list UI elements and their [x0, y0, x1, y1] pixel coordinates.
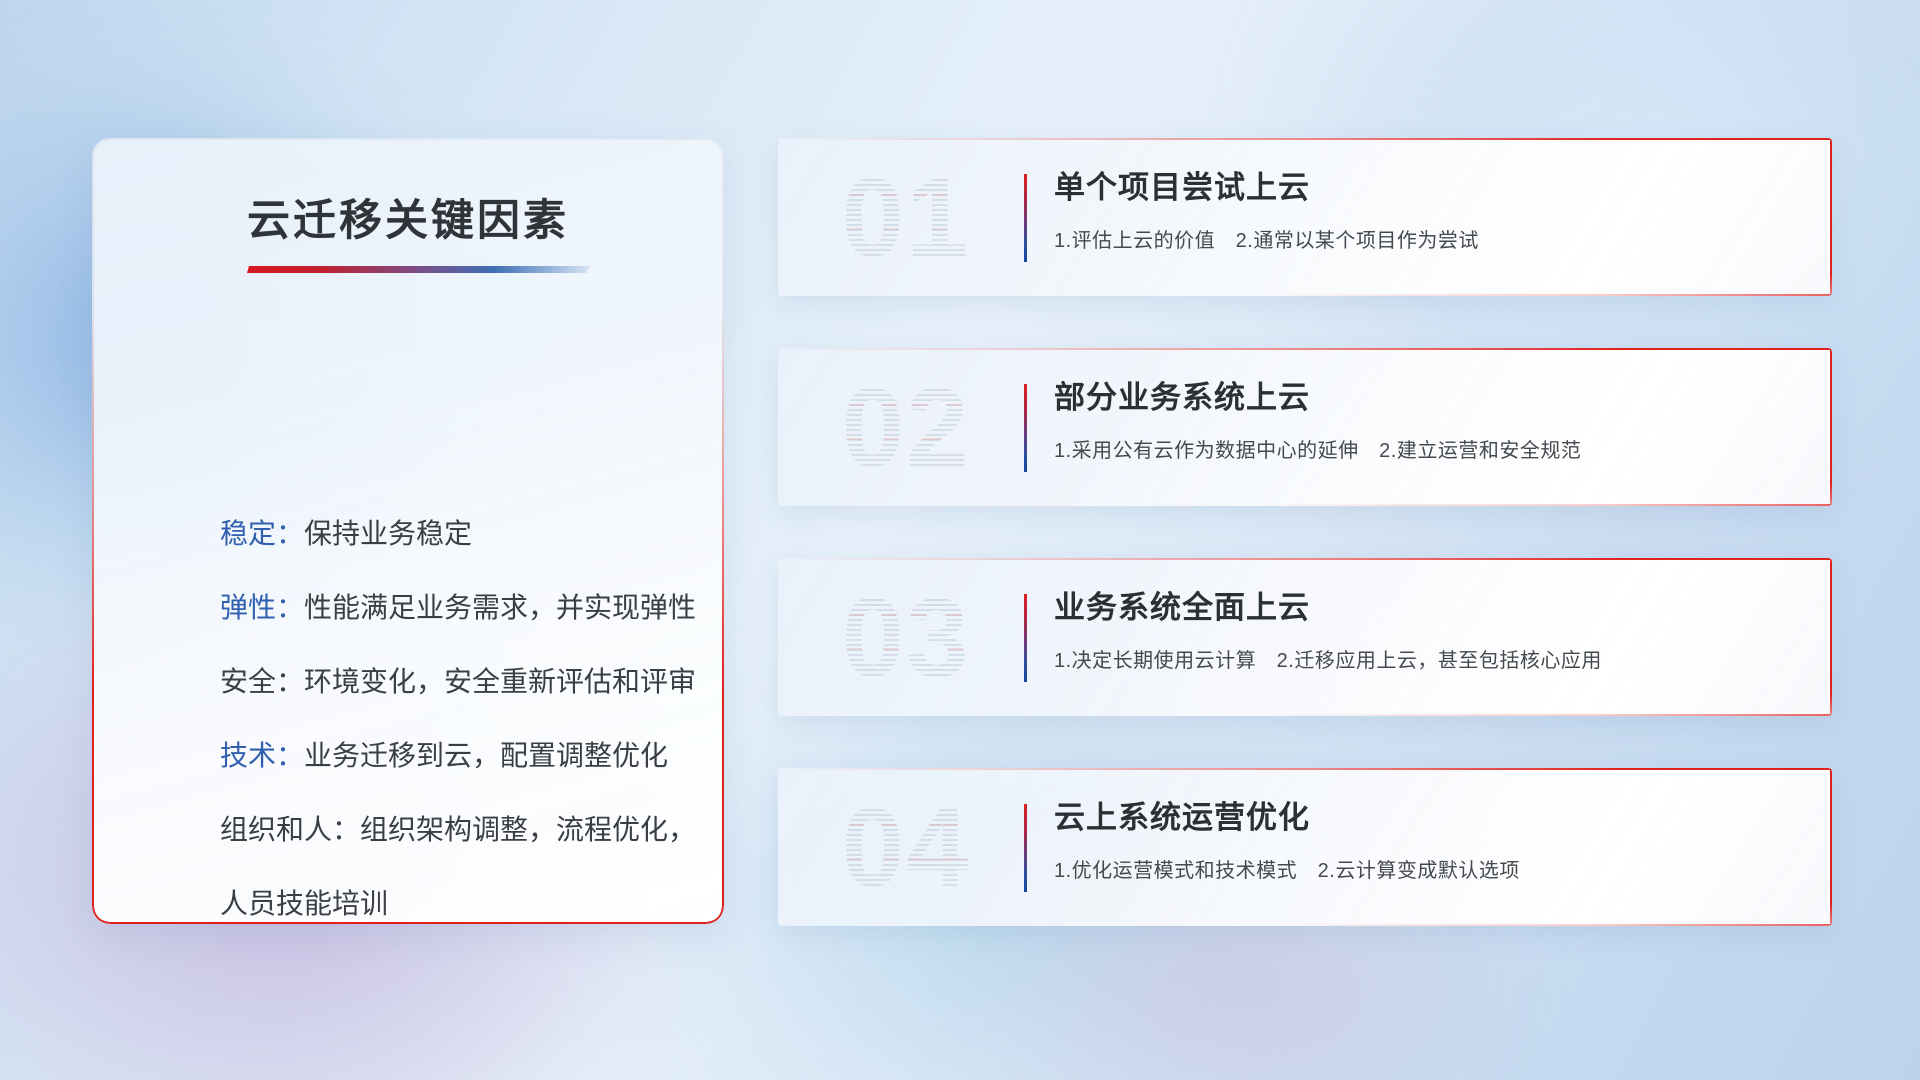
factor-row: 人员技能培训: [220, 890, 690, 918]
factor-list: 稳定：保持业务稳定弹性：性能满足业务需求，并实现弹性安全：环境变化，安全重新评估…: [220, 520, 690, 918]
card-top-border: [778, 558, 1832, 560]
factor-label: 稳定：: [220, 518, 304, 549]
factor-text: 业务迁移到云，配置调整优化: [304, 740, 668, 771]
factor-text: 性能满足业务需求，并实现弹性: [304, 592, 696, 623]
factor-label: 安全：: [220, 666, 304, 697]
card-bottom-border: [778, 504, 1832, 506]
stage-card[interactable]: 0101单个项目尝试上云1.评估上云的价值 2.通常以某个项目作为尝试: [778, 138, 1832, 296]
card-top-border: [778, 138, 1832, 140]
stage-number-watermark-tint: 02: [826, 364, 986, 492]
factor-text: 环境变化，安全重新评估和评审: [304, 666, 696, 697]
factor-text: 组织架构调整，流程优化，: [360, 814, 696, 845]
card-right-border: [1830, 768, 1832, 926]
stage-number-watermark-tint: 04: [826, 784, 986, 912]
factor-row: 组织和人：组织架构调整，流程优化，: [220, 816, 690, 844]
factor-row: 安全：环境变化，安全重新评估和评审: [220, 668, 690, 696]
stage-subtitle: 1.评估上云的价值 2.通常以某个项目作为尝试: [1054, 224, 1802, 253]
stage-accent-bar: [1024, 384, 1027, 472]
factor-row: 稳定：保持业务稳定: [220, 520, 690, 548]
stage-title: 部分业务系统上云: [1054, 380, 1802, 416]
title-underline-accent: [247, 266, 591, 273]
factor-label: 组织和人：: [220, 814, 360, 845]
page-title: 云迁移关键因素: [92, 186, 724, 248]
stage-card-body: 云上系统运营优化1.优化运营模式和技术模式 2.云计算变成默认选项: [1054, 800, 1802, 883]
key-factors-panel: 云迁移关键因素 稳定：保持业务稳定弹性：性能满足业务需求，并实现弹性安全：环境变…: [92, 138, 724, 924]
card-right-border: [1830, 558, 1832, 716]
factor-row: 弹性：性能满足业务需求，并实现弹性: [220, 594, 690, 622]
stage-accent-bar: [1024, 174, 1027, 262]
stage-accent-bar: [1024, 594, 1027, 682]
stage-title: 单个项目尝试上云: [1054, 170, 1802, 206]
stage-card-list: 0101单个项目尝试上云1.评估上云的价值 2.通常以某个项目作为尝试0202部…: [778, 138, 1832, 926]
factor-row: 技术：业务迁移到云，配置调整优化: [220, 742, 690, 770]
stage-accent-bar: [1024, 804, 1027, 892]
factor-label: 弹性：: [220, 592, 304, 623]
stage-subtitle: 1.决定长期使用云计算 2.迁移应用上云，甚至包括核心应用: [1054, 644, 1802, 673]
stage-number-watermark-tint: 03: [826, 574, 986, 702]
stage-card-body: 单个项目尝试上云1.评估上云的价值 2.通常以某个项目作为尝试: [1054, 170, 1802, 253]
card-bottom-border: [778, 714, 1832, 716]
stage-number-watermark-tint: 01: [826, 154, 986, 282]
card-top-border: [778, 348, 1832, 350]
stage-card[interactable]: 0404云上系统运营优化1.优化运营模式和技术模式 2.云计算变成默认选项: [778, 768, 1832, 926]
card-bottom-border: [778, 924, 1832, 926]
card-bottom-border: [778, 294, 1832, 296]
stage-card-body: 业务系统全面上云1.决定长期使用云计算 2.迁移应用上云，甚至包括核心应用: [1054, 590, 1802, 673]
stage-card[interactable]: 0202部分业务系统上云1.采用公有云作为数据中心的延伸 2.建立运营和安全规范: [778, 348, 1832, 506]
factor-text: 保持业务稳定: [304, 518, 472, 549]
stage-subtitle: 1.采用公有云作为数据中心的延伸 2.建立运营和安全规范: [1054, 434, 1802, 463]
factor-text: 人员技能培训: [220, 888, 388, 919]
card-right-border: [1830, 138, 1832, 296]
card-top-border: [778, 768, 1832, 770]
stage-title: 云上系统运营优化: [1054, 800, 1802, 836]
card-right-border: [1830, 348, 1832, 506]
stage-title: 业务系统全面上云: [1054, 590, 1802, 626]
stage-subtitle: 1.优化运营模式和技术模式 2.云计算变成默认选项: [1054, 854, 1802, 883]
factor-label: 技术：: [220, 740, 304, 771]
stage-card[interactable]: 0303业务系统全面上云1.决定长期使用云计算 2.迁移应用上云，甚至包括核心应…: [778, 558, 1832, 716]
stage-card-body: 部分业务系统上云1.采用公有云作为数据中心的延伸 2.建立运营和安全规范: [1054, 380, 1802, 463]
